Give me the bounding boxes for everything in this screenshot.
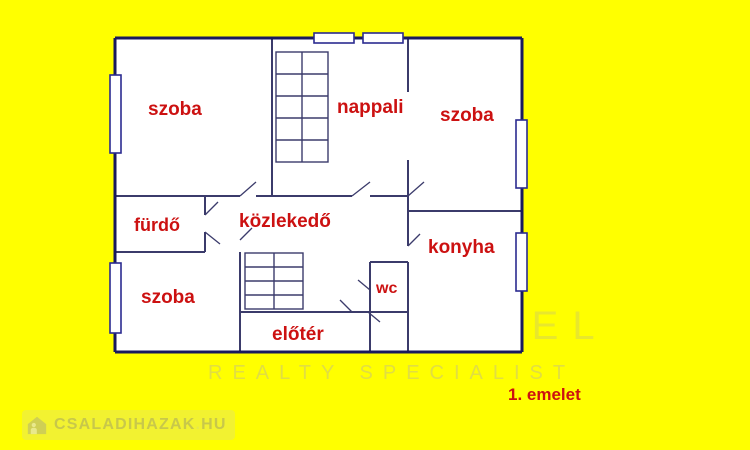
floorplan-screenshot: CITY CARTEL REALTY SPECIALIST	[0, 0, 750, 450]
room-label-konyha: konyha	[428, 238, 495, 257]
floor-plan-drawing	[0, 0, 750, 450]
room-label-nappali: nappali	[337, 98, 404, 117]
window-right-lower	[516, 233, 527, 291]
window-right-upper	[516, 120, 527, 188]
window-left-upper	[110, 75, 121, 153]
room-label-elotér: előtér	[272, 325, 324, 344]
room-label-furdo: fürdő	[134, 216, 180, 234]
room-label-szoba-bottom-left: szoba	[141, 288, 195, 307]
window-left-lower	[110, 263, 121, 333]
window-top-a	[314, 33, 354, 43]
room-label-wc: wc	[376, 281, 397, 297]
room-label-kozlekedo: közlekedő	[239, 212, 331, 231]
window-top-b	[363, 33, 403, 43]
floor-caption: 1. emelet	[508, 385, 581, 405]
room-label-szoba-top-right: szoba	[440, 106, 494, 125]
room-label-szoba-top-left: szoba	[148, 100, 202, 119]
